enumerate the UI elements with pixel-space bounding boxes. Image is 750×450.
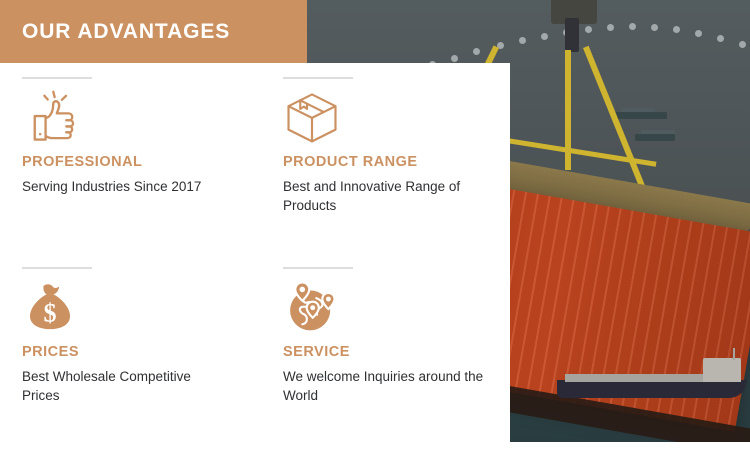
- feature-item-prices: $ PRICES Best Wholesale Competitive Pric…: [0, 253, 261, 442]
- feature-title: PRICES: [22, 344, 261, 360]
- divider-line: [283, 77, 353, 79]
- feature-description: Best Wholesale Competitive Prices: [22, 367, 227, 405]
- thumbs-up-icon: [22, 89, 80, 145]
- features-card: PROFESSIONAL Serving Industries Since 20…: [0, 63, 510, 442]
- feature-description: Best and Innovative Range of Products: [283, 177, 488, 215]
- divider-line: [22, 267, 92, 269]
- svg-text:$: $: [43, 299, 56, 328]
- feature-title: PRODUCT RANGE: [283, 154, 510, 170]
- feature-title: SERVICE: [283, 344, 510, 360]
- feature-item-service: SERVICE We welcome Inquiries around the …: [261, 253, 510, 442]
- feature-title: PROFESSIONAL: [22, 154, 261, 170]
- bottom-white-strip: [0, 442, 750, 450]
- feature-item-professional: PROFESSIONAL Serving Industries Since 20…: [0, 63, 261, 253]
- divider-line: [22, 77, 92, 79]
- page-title: OUR ADVANTAGES: [22, 20, 230, 44]
- divider-line: [283, 267, 353, 269]
- money-bag-icon: $: [22, 279, 80, 335]
- advantages-banner-graphic: FCIU 904 7101 MAX GR NET CU OUR ADVANTAG…: [0, 0, 750, 450]
- features-grid: PROFESSIONAL Serving Industries Since 20…: [0, 63, 510, 442]
- package-box-icon: [283, 89, 341, 145]
- header-banner: OUR ADVANTAGES: [0, 0, 307, 63]
- feature-item-product-range: PRODUCT RANGE Best and Innovative Range …: [261, 63, 510, 253]
- feature-description: We welcome Inquiries around the World: [283, 367, 488, 405]
- globe-pins-icon: [283, 279, 341, 335]
- feature-description: Serving Industries Since 2017: [22, 177, 227, 196]
